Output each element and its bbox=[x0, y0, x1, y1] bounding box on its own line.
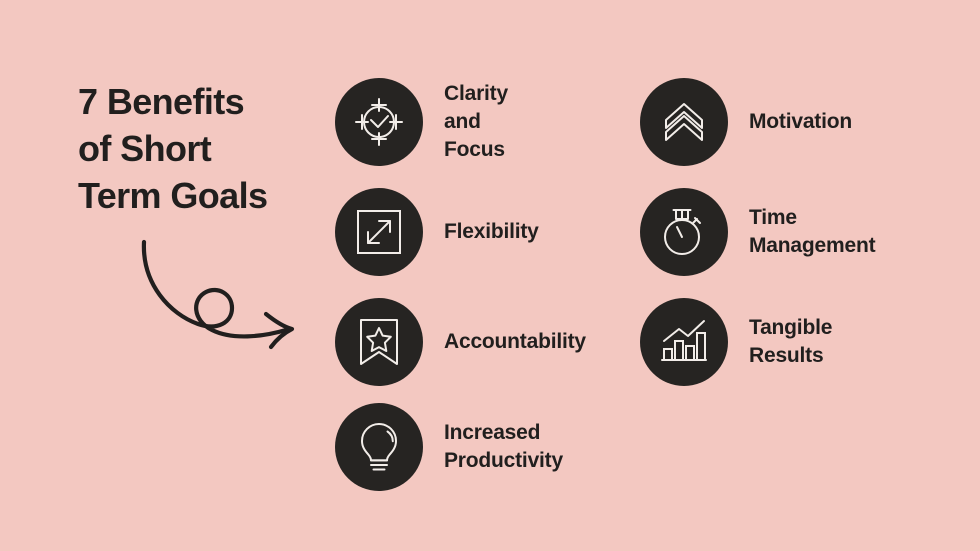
target-check-icon bbox=[335, 78, 423, 166]
benefit-label: Flexibility bbox=[444, 218, 539, 246]
curved-loop-arrow-icon bbox=[124, 238, 324, 350]
benefit-label: Tangible Results bbox=[749, 314, 832, 370]
expand-arrows-square-icon bbox=[335, 188, 423, 276]
benefit-item-time-management[interactable]: Time Management bbox=[640, 188, 875, 276]
page-title: 7 Benefits of Short Term Goals bbox=[78, 78, 323, 219]
bookmark-star-icon bbox=[335, 298, 423, 386]
benefit-label-line: Accountability bbox=[444, 328, 586, 356]
benefit-item-increased-productivity[interactable]: Increased Productivity bbox=[335, 403, 563, 491]
title-line-3: Term Goals bbox=[78, 172, 323, 219]
benefit-item-accountability[interactable]: Accountability bbox=[335, 298, 586, 386]
title-line-2: of Short bbox=[78, 125, 323, 172]
benefit-item-motivation[interactable]: Motivation bbox=[640, 78, 852, 166]
benefit-label: Accountability bbox=[444, 328, 586, 356]
benefit-label-line: Productivity bbox=[444, 447, 563, 475]
bar-chart-growth-icon bbox=[640, 298, 728, 386]
benefit-label: Motivation bbox=[749, 108, 852, 136]
benefit-label-line: Time bbox=[749, 204, 875, 232]
benefit-label-line: Management bbox=[749, 232, 875, 260]
benefit-label-line: Results bbox=[749, 342, 832, 370]
benefit-item-clarity-and-focus[interactable]: Clarity and Focus bbox=[335, 78, 508, 166]
title-line-1: 7 Benefits bbox=[78, 78, 323, 125]
benefit-label-line: Focus bbox=[444, 136, 508, 164]
benefit-label-line: Tangible bbox=[749, 314, 832, 342]
lightbulb-icon bbox=[335, 403, 423, 491]
benefit-label: Increased Productivity bbox=[444, 419, 563, 475]
benefit-label-line: Clarity and bbox=[444, 80, 508, 136]
double-chevron-up-icon bbox=[640, 78, 728, 166]
benefit-item-flexibility[interactable]: Flexibility bbox=[335, 188, 539, 276]
benefit-item-tangible-results[interactable]: Tangible Results bbox=[640, 298, 832, 386]
stopwatch-icon bbox=[640, 188, 728, 276]
benefit-label-line: Motivation bbox=[749, 108, 852, 136]
benefit-label-line: Increased bbox=[444, 419, 563, 447]
benefit-label: Time Management bbox=[749, 204, 875, 260]
benefit-label-line: Flexibility bbox=[444, 218, 539, 246]
benefit-label: Clarity and Focus bbox=[444, 80, 508, 164]
infographic-slide: 7 Benefits of Short Term Goals bbox=[0, 0, 980, 551]
